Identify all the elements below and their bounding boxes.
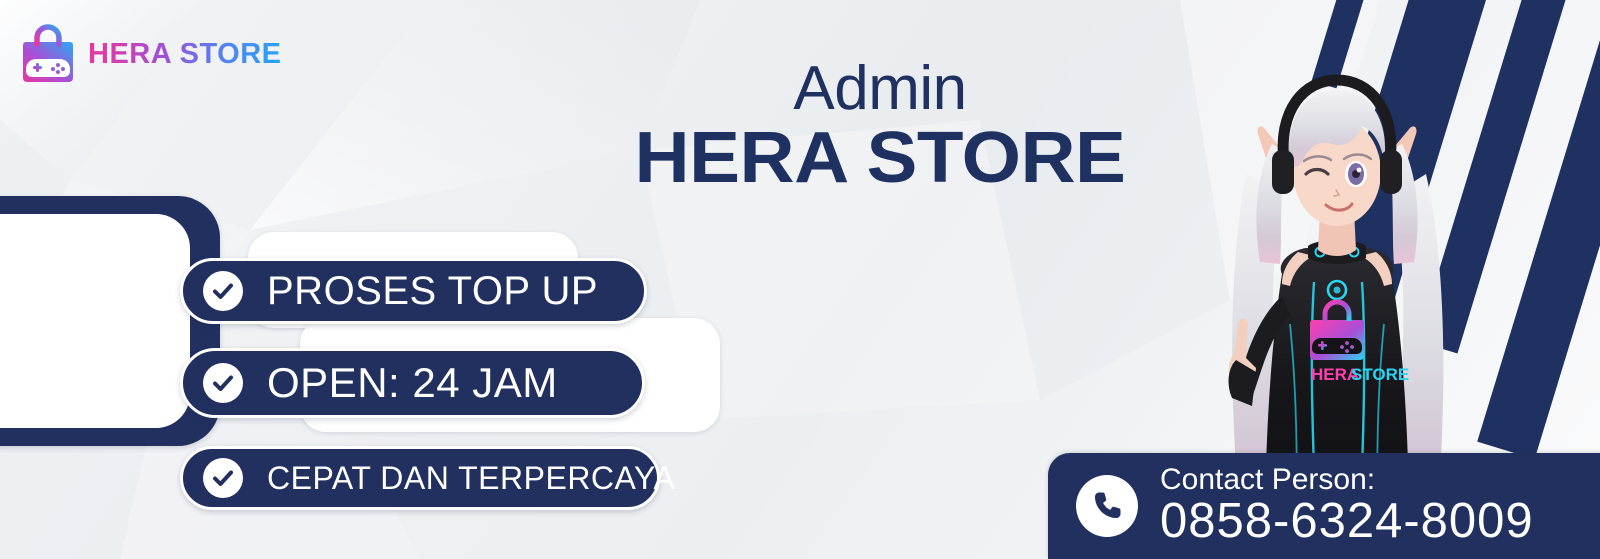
contact-number: 0858-6324-8009 bbox=[1160, 497, 1534, 547]
check-circle-icon bbox=[203, 458, 243, 498]
phone-icon bbox=[1076, 475, 1138, 537]
brand-logo: HERA STORE bbox=[20, 24, 282, 84]
contact-text-block: Contact Person: 0858-6324-8009 bbox=[1160, 465, 1534, 548]
brand-wordmark: HERA STORE bbox=[88, 38, 282, 71]
headline-line-2: HERA STORE bbox=[604, 122, 1155, 194]
check-circle-icon bbox=[203, 363, 243, 403]
feature-pill-cepat-dan-terpercaya: CEPAT DAN TERPERCAYA bbox=[180, 446, 660, 510]
feature-pill-label: OPEN: 24 JAM bbox=[267, 359, 558, 407]
check-circle-icon bbox=[203, 271, 243, 311]
contact-badge[interactable]: Contact Person: 0858-6324-8009 bbox=[1048, 453, 1600, 559]
feature-pill-open-24-jam: OPEN: 24 JAM bbox=[180, 348, 645, 418]
svg-text:STORE: STORE bbox=[1351, 365, 1409, 384]
shopping-bag-gamepad-icon bbox=[20, 24, 76, 84]
feature-pill-label: PROSES TOP UP bbox=[267, 269, 598, 314]
page-title: Admin HERA STORE bbox=[620, 58, 1140, 194]
feature-pill-proses-top-up: PROSES TOP UP bbox=[180, 258, 647, 324]
promo-banner: HERA STORE Admin HERA STORE PROSES TOP U… bbox=[0, 0, 1600, 559]
feature-pill-label: CEPAT DAN TERPERCAYA bbox=[267, 460, 675, 497]
decor-left-frame-inner bbox=[0, 214, 190, 428]
contact-label: Contact Person: bbox=[1160, 465, 1534, 496]
headline-line-1: Admin bbox=[620, 58, 1140, 120]
